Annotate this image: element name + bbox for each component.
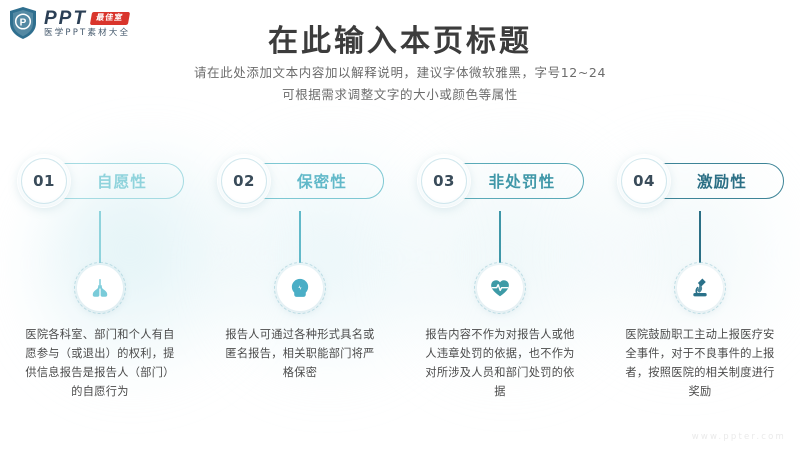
number-text-4: 04 <box>633 172 655 190</box>
page-subtitle: 请在此处添加文本内容加以解释说明，建议字体微软雅黑，字号12~24 可根据需求调… <box>0 62 800 106</box>
pill-label-1: 自愿性 <box>70 163 174 199</box>
icon-badge-2[interactable] <box>277 265 323 311</box>
feature-column-2: 保密性 02 报告人可通过各种形式具名或匿名报告，相关职能部门将严格保密 <box>200 155 400 401</box>
number-circle-2: 02 <box>218 155 270 207</box>
pill-label-2: 保密性 <box>270 163 374 199</box>
feature-column-3: 非处罚性 03 报告内容不作为对报告人或他人违章处罚的依据，也不作为对所涉及人员… <box>400 155 600 401</box>
page-title: 在此输入本页标题 <box>0 16 800 60</box>
feature-columns: 自愿性 01 医院各科室、部门和个人有自愿参与（或退出）的权利，提供信息报告是报… <box>0 155 800 401</box>
connector-line-2 <box>299 211 301 263</box>
heart-pulse-icon <box>489 277 511 299</box>
icon-badge-4[interactable] <box>677 265 723 311</box>
number-text-3: 03 <box>433 172 455 190</box>
connector-line-1 <box>99 211 101 263</box>
feature-header-1[interactable]: 自愿性 01 <box>10 155 190 207</box>
site-watermark: www.ppter.com <box>692 432 786 442</box>
pill-label-4: 激励性 <box>670 163 774 199</box>
number-text-2: 02 <box>233 172 255 190</box>
number-circle-1: 01 <box>18 155 70 207</box>
feature-text-3: 报告内容不作为对报告人或他人违章处罚的依据，也不作为对所涉及人员和部门处罚的依据 <box>421 325 579 401</box>
number-circle-4: 04 <box>618 155 670 207</box>
number-circle-3: 03 <box>418 155 470 207</box>
feature-text-1: 医院各科室、部门和个人有自愿参与（或退出）的权利，提供信息报告是报告人（部门）的… <box>21 325 179 401</box>
feature-text-2: 报告人可通过各种形式具名或匿名报告，相关职能部门将严格保密 <box>221 325 379 382</box>
page-subtitle-line-2: 可根据需求调整文字的大小或颜色等属性 <box>0 84 800 106</box>
feature-text-4: 医院鼓励职工主动上报医疗安全事件，对于不良事件的上报者，按照医院的相关制度进行奖… <box>621 325 779 401</box>
icon-badge-3[interactable] <box>477 265 523 311</box>
connector-line-3 <box>499 211 501 263</box>
brain-bolt-icon <box>289 277 311 299</box>
lungs-icon <box>89 277 111 299</box>
icon-badge-1[interactable] <box>77 265 123 311</box>
microscope-icon <box>689 277 711 299</box>
page-subtitle-line-1: 请在此处添加文本内容加以解释说明，建议字体微软雅黑，字号12~24 <box>0 62 800 84</box>
feature-header-2[interactable]: 保密性 02 <box>210 155 390 207</box>
feature-header-3[interactable]: 非处罚性 03 <box>410 155 590 207</box>
feature-column-4: 激励性 04 医院鼓励职工主动上报医疗安全事件，对于不良事件的上报者，按照医院的… <box>600 155 800 401</box>
feature-header-4[interactable]: 激励性 04 <box>610 155 790 207</box>
number-text-1: 01 <box>33 172 55 190</box>
pill-label-3: 非处罚性 <box>470 163 574 199</box>
feature-column-1: 自愿性 01 医院各科室、部门和个人有自愿参与（或退出）的权利，提供信息报告是报… <box>0 155 200 401</box>
connector-line-4 <box>699 211 701 263</box>
